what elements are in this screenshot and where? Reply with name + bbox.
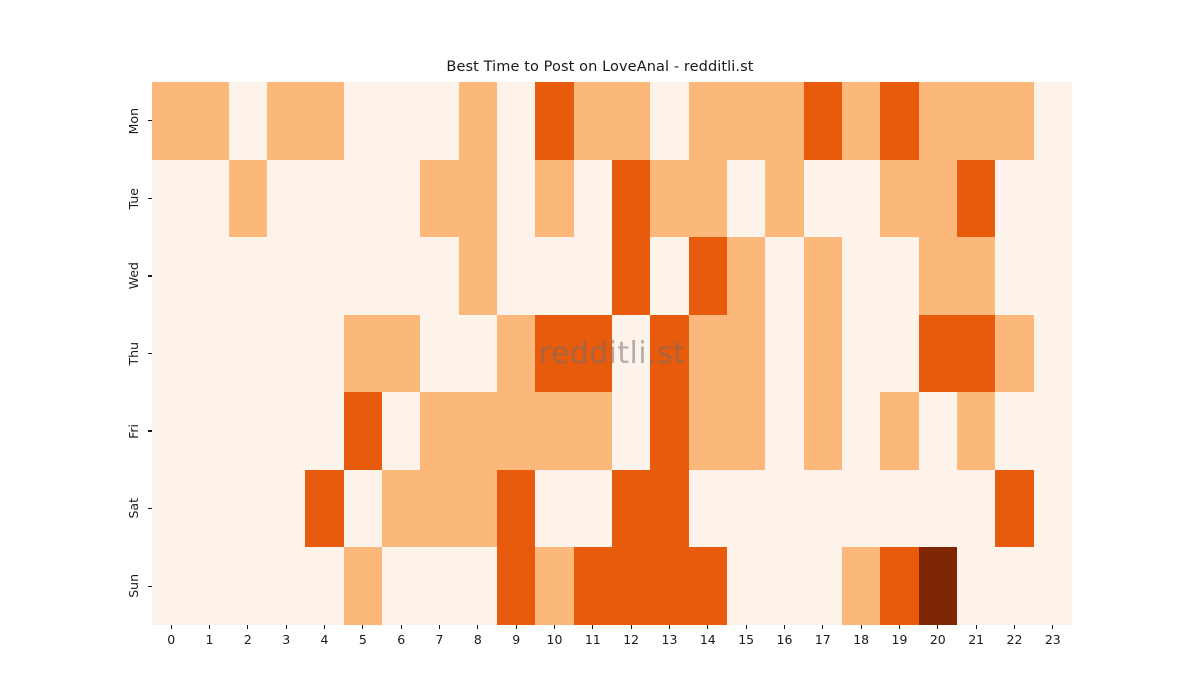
x-tick-mark [822,625,823,629]
heatmap-cell [535,237,573,315]
x-tick-label: 21 [968,634,984,647]
x-axis: 01234567891011121314151617181920212223 [152,625,1072,665]
heatmap-cell [919,470,957,548]
heatmap-cell [842,160,880,238]
x-tick-10: 10 [535,625,573,647]
heatmap-cell [880,82,918,160]
heatmap-plot-area: redditli.st [152,82,1072,625]
heatmap-cell [152,470,190,548]
x-tick-mark [439,625,440,629]
y-tick-label: Thu [128,342,141,365]
x-tick-11: 11 [574,625,612,647]
heatmap-cell [459,547,497,625]
heatmap-cell [765,237,803,315]
heatmap-cell [459,82,497,160]
heatmap-cell [267,82,305,160]
x-tick-7: 7 [420,625,458,647]
x-tick-mark [592,625,593,629]
x-tick-mark [209,625,210,629]
heatmap-cell [574,392,612,470]
y-tick-tue: Tue [0,160,152,238]
x-tick-label: 9 [512,634,520,647]
heatmap-cell [727,392,765,470]
heatmap-cell [727,470,765,548]
heatmap-cell [497,237,535,315]
x-tick-mark [324,625,325,629]
heatmap-cell [804,392,842,470]
x-tick-label: 17 [815,634,831,647]
heatmap-cell [995,470,1033,548]
x-tick-22: 22 [995,625,1033,647]
heatmap-cell [957,160,995,238]
x-tick-label: 14 [700,634,716,647]
heatmap-cell [612,547,650,625]
x-tick-mark [477,625,478,629]
heatmap-cell [919,392,957,470]
heatmap-cell [689,392,727,470]
heatmap-cell [229,160,267,238]
heatmap-cell [919,82,957,160]
heatmap-cell [804,315,842,393]
heatmap-cell [689,470,727,548]
y-tick-label: Mon [128,108,141,134]
heatmap-cell [919,237,957,315]
x-tick-0: 0 [152,625,190,647]
heatmap-cell [305,392,343,470]
x-tick-mark [286,625,287,629]
heatmap-cell [267,470,305,548]
heatmap-cell [190,160,228,238]
heatmap-cell [880,392,918,470]
heatmap-cell [152,237,190,315]
heatmap-cell [1034,82,1072,160]
heatmap-cell [190,470,228,548]
x-tick-label: 19 [892,634,908,647]
x-tick-label: 7 [436,634,444,647]
heatmap-cell [190,82,228,160]
x-tick-mark [1014,625,1015,629]
y-tick-label: Fri [128,424,141,439]
x-tick-2: 2 [229,625,267,647]
heatmap-cell [727,160,765,238]
heatmap-grid [152,82,1072,625]
heatmap-cell [267,160,305,238]
heatmap-cell [842,470,880,548]
heatmap-cell [267,392,305,470]
heatmap-cell [689,315,727,393]
heatmap-cell [152,160,190,238]
y-tick-label: Sat [128,498,141,519]
x-tick-label: 15 [738,634,754,647]
heatmap-cell [420,82,458,160]
heatmap-cell [229,392,267,470]
heatmap-cell [574,160,612,238]
heatmap-cell [152,392,190,470]
heatmap-cell [497,160,535,238]
x-tick-1: 1 [190,625,228,647]
figure-canvas: Best Time to Post on LoveAnal - redditli… [0,0,1200,700]
y-tick-label: Sun [128,574,141,598]
x-tick-mark [554,625,555,629]
x-tick-label: 18 [853,634,869,647]
heatmap-cell [612,82,650,160]
heatmap-cell [995,160,1033,238]
x-tick-15: 15 [727,625,765,647]
heatmap-cell [1034,547,1072,625]
x-tick-label: 2 [244,634,252,647]
heatmap-cell [459,160,497,238]
heatmap-cell [689,82,727,160]
heatmap-cell [727,315,765,393]
x-tick-mark [937,625,938,629]
x-tick-4: 4 [305,625,343,647]
heatmap-cell [459,392,497,470]
x-tick-20: 20 [919,625,957,647]
x-tick-8: 8 [459,625,497,647]
y-tick-sat: Sat [0,470,152,548]
heatmap-cell [574,237,612,315]
heatmap-cell [1034,470,1072,548]
heatmap-cell [574,470,612,548]
heatmap-cell [612,470,650,548]
heatmap-cell [229,547,267,625]
x-tick-mark [861,625,862,629]
heatmap-cell [535,82,573,160]
x-tick-5: 5 [344,625,382,647]
x-tick-13: 13 [650,625,688,647]
heatmap-cell [497,392,535,470]
heatmap-cell [957,470,995,548]
y-tick-thu: Thu [0,315,152,393]
heatmap-cell [995,315,1033,393]
x-tick-mark [362,625,363,629]
heatmap-cell [535,315,573,393]
x-tick-label: 5 [359,634,367,647]
heatmap-cell [344,160,382,238]
heatmap-cell [919,547,957,625]
heatmap-cell [612,315,650,393]
heatmap-cell [305,547,343,625]
heatmap-cell [535,392,573,470]
heatmap-cell [382,160,420,238]
x-tick-mark [707,625,708,629]
x-tick-mark [631,625,632,629]
heatmap-cell [650,237,688,315]
heatmap-cell [842,315,880,393]
heatmap-cell [842,237,880,315]
heatmap-cell [765,315,803,393]
heatmap-cell [650,470,688,548]
heatmap-cell [995,82,1033,160]
heatmap-cell [765,470,803,548]
x-tick-18: 18 [842,625,880,647]
heatmap-cell [727,82,765,160]
y-tick-label: Wed [128,262,141,289]
heatmap-cell [804,237,842,315]
heatmap-cell [459,237,497,315]
heatmap-cell [382,237,420,315]
heatmap-cell [804,470,842,548]
y-axis: MonTueWedThuFriSatSun [0,82,152,625]
x-tick-mark [669,625,670,629]
heatmap-cell [229,237,267,315]
x-tick-mark [401,625,402,629]
y-tick-sun: Sun [0,547,152,625]
heatmap-cell [1034,392,1072,470]
heatmap-cell [995,237,1033,315]
heatmap-cell [804,82,842,160]
y-tick-fri: Fri [0,392,152,470]
heatmap-cell [957,82,995,160]
heatmap-cell [689,547,727,625]
x-tick-3: 3 [267,625,305,647]
chart-title: Best Time to Post on LoveAnal - redditli… [0,59,1200,75]
x-tick-12: 12 [612,625,650,647]
heatmap-cell [880,237,918,315]
heatmap-cell [880,160,918,238]
x-tick-9: 9 [497,625,535,647]
heatmap-cell [190,315,228,393]
heatmap-cell [305,315,343,393]
heatmap-cell [382,82,420,160]
x-tick-label: 6 [397,634,405,647]
heatmap-cell [957,392,995,470]
x-tick-21: 21 [957,625,995,647]
heatmap-cell [420,160,458,238]
x-tick-label: 8 [474,634,482,647]
heatmap-cell [689,160,727,238]
heatmap-cell [420,470,458,548]
heatmap-cell [880,547,918,625]
heatmap-cell [497,470,535,548]
x-tick-label: 12 [623,634,639,647]
x-tick-label: 4 [321,634,329,647]
heatmap-cell [804,547,842,625]
x-tick-mark [899,625,900,629]
heatmap-cell [267,237,305,315]
x-tick-label: 11 [585,634,601,647]
x-tick-label: 0 [167,634,175,647]
heatmap-cell [535,547,573,625]
heatmap-cell [880,470,918,548]
heatmap-cell [382,547,420,625]
heatmap-cell [612,237,650,315]
x-tick-mark [171,625,172,629]
heatmap-cell [190,237,228,315]
heatmap-cell [919,160,957,238]
heatmap-cell [842,547,880,625]
x-tick-14: 14 [689,625,727,647]
x-tick-23: 23 [1034,625,1072,647]
x-tick-mark [746,625,747,629]
heatmap-cell [957,237,995,315]
heatmap-cell [497,547,535,625]
heatmap-cell [727,547,765,625]
heatmap-cell [1034,237,1072,315]
heatmap-cell [152,82,190,160]
heatmap-cell [689,237,727,315]
y-tick-label: Tue [128,188,141,209]
heatmap-cell [420,315,458,393]
heatmap-cell [804,160,842,238]
heatmap-cell [995,547,1033,625]
heatmap-cell [152,315,190,393]
heatmap-cell [995,392,1033,470]
heatmap-cell [957,315,995,393]
heatmap-cell [229,82,267,160]
heatmap-cell [842,82,880,160]
heatmap-cell [267,315,305,393]
heatmap-cell [420,237,458,315]
heatmap-cell [382,315,420,393]
x-tick-label: 1 [206,634,214,647]
heatmap-cell [305,470,343,548]
heatmap-cell [344,315,382,393]
heatmap-cell [344,82,382,160]
x-tick-mark [247,625,248,629]
heatmap-cell [957,547,995,625]
heatmap-cell [190,392,228,470]
heatmap-cell [727,237,765,315]
heatmap-cell [305,82,343,160]
heatmap-cell [305,160,343,238]
heatmap-cell [344,392,382,470]
heatmap-cell [765,392,803,470]
heatmap-cell [650,82,688,160]
heatmap-cell [765,82,803,160]
heatmap-cell [765,547,803,625]
heatmap-cell [344,470,382,548]
heatmap-cell [880,315,918,393]
x-tick-mark [516,625,517,629]
heatmap-cell [267,547,305,625]
x-tick-label: 23 [1045,634,1061,647]
heatmap-cell [190,547,228,625]
heatmap-cell [650,392,688,470]
x-tick-label: 10 [547,634,563,647]
heatmap-cell [382,392,420,470]
heatmap-cell [650,315,688,393]
heatmap-cell [574,547,612,625]
x-tick-6: 6 [382,625,420,647]
heatmap-cell [344,547,382,625]
heatmap-cell [420,547,458,625]
y-tick-mon: Mon [0,82,152,160]
x-tick-16: 16 [765,625,803,647]
heatmap-cell [420,392,458,470]
heatmap-cell [459,470,497,548]
x-tick-label: 22 [1007,634,1023,647]
heatmap-cell [650,547,688,625]
x-tick-mark [976,625,977,629]
x-tick-label: 13 [662,634,678,647]
heatmap-cell [612,392,650,470]
heatmap-cell [574,82,612,160]
heatmap-cell [535,160,573,238]
heatmap-cell [535,470,573,548]
heatmap-cell [229,315,267,393]
x-tick-mark [784,625,785,629]
heatmap-cell [612,160,650,238]
heatmap-cell [574,315,612,393]
heatmap-cell [382,470,420,548]
heatmap-cell [229,470,267,548]
heatmap-cell [765,160,803,238]
heatmap-cell [650,160,688,238]
x-tick-mark [1052,625,1053,629]
x-tick-label: 3 [282,634,290,647]
heatmap-cell [497,82,535,160]
x-tick-label: 20 [930,634,946,647]
heatmap-cell [152,547,190,625]
x-tick-17: 17 [804,625,842,647]
heatmap-cell [1034,160,1072,238]
heatmap-cell [1034,315,1072,393]
heatmap-cell [842,392,880,470]
heatmap-cell [344,237,382,315]
x-tick-label: 16 [777,634,793,647]
heatmap-cell [305,237,343,315]
heatmap-cell [919,315,957,393]
x-tick-19: 19 [880,625,918,647]
heatmap-cell [459,315,497,393]
y-tick-wed: Wed [0,237,152,315]
heatmap-cell [497,315,535,393]
